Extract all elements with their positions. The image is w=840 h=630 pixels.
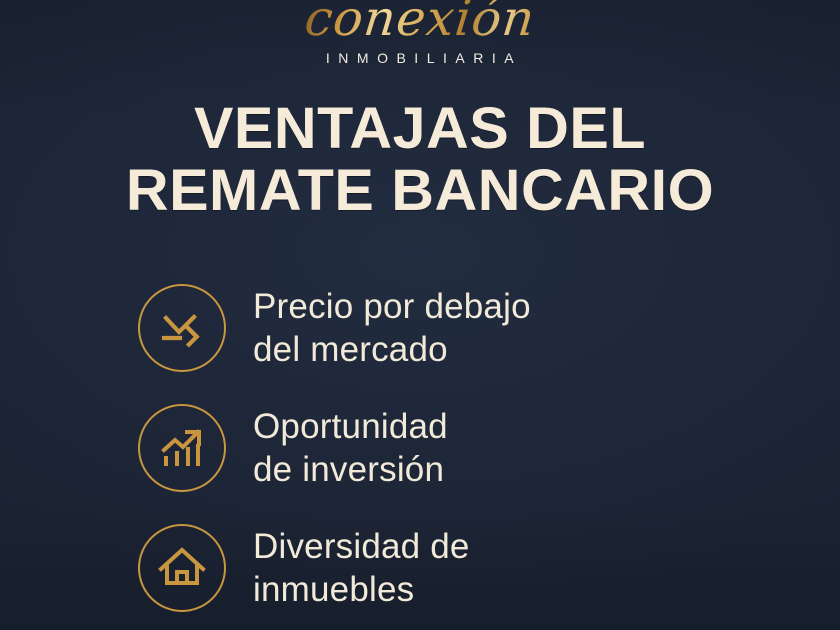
headline-line-1: VENTAJAS DEL [0,98,840,160]
benefit-label: Precio por debajo del mercado [253,285,531,371]
house-icon [138,524,226,612]
benefit-line-2: inmuebles [253,568,470,611]
bar-chart-growth-icon [138,404,226,492]
benefit-line-1: Oportunidad [253,405,448,448]
list-item: Precio por debajo del mercado [138,268,838,388]
benefit-line-1: Diversidad de [253,525,470,568]
headline-line-2: REMATE BANCARIO [0,160,840,222]
logo-subtitle: INMOBILIARIA [0,50,840,66]
benefit-label: Oportunidad de inversión [253,405,448,491]
list-item: Diversidad de inmuebles [138,508,838,628]
benefit-label: Diversidad de inmuebles [253,525,470,611]
trending-down-arrow-icon [138,284,226,372]
list-item: Oportunidad de inversión [138,388,838,508]
benefits-list: Precio por debajo del mercado Oportunida… [138,268,838,630]
brand-logo: • • • • • • • conexión INMOBILIARIA [0,0,840,66]
benefit-line-2: de inversión [253,448,448,491]
benefit-line-2: del mercado [253,328,531,371]
logo-script-name: conexión [302,0,538,48]
page-title: VENTAJAS DEL REMATE BANCARIO [0,98,840,222]
benefit-line-1: Precio por debajo [253,285,531,328]
poster-canvas: • • • • • • • conexión INMOBILIARIA VENT… [0,0,840,630]
